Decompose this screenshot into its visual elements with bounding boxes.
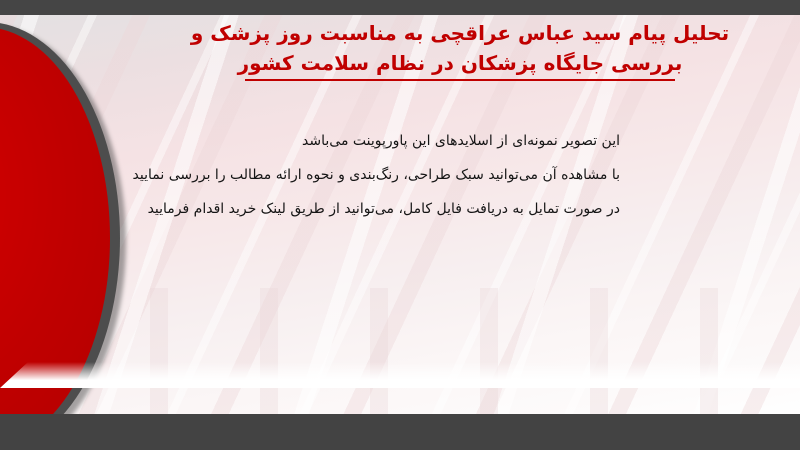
presentation-slide: تحلیل پیام سید عباس عراقچی به مناسبت روز… (0, 0, 800, 450)
slide-title-line-2: بررسی جایگاه پزشکان در نظام سلامت کشور (140, 48, 780, 78)
body-text-line-3: در صورت تمایل به دریافت فایل کامل، می‌تو… (180, 192, 620, 226)
body-text-line-1: این تصویر نمونه‌ای از اسلایدهای این پاور… (180, 124, 620, 158)
slide-canvas: تحلیل پیام سید عباس عراقچی به مناسبت روز… (0, 14, 800, 418)
background-vertical-bands-decoration (0, 288, 800, 418)
oval-red-fill (0, 27, 110, 418)
bottom-white-wedge-decoration (0, 362, 800, 388)
slide-body-text: این تصویر نمونه‌ای از اسلایدهای این پاور… (180, 124, 620, 226)
bottom-dark-bar-decoration (0, 414, 800, 450)
top-dark-bar-decoration (0, 0, 800, 15)
title-underline-rule (245, 79, 675, 81)
left-red-oval-shape (0, 22, 120, 418)
slide-title: تحلیل پیام سید عباس عراقچی به مناسبت روز… (140, 18, 780, 81)
slide-title-line-1: تحلیل پیام سید عباس عراقچی به مناسبت روز… (140, 18, 780, 48)
oval-shadow (0, 26, 126, 418)
body-text-line-2: با مشاهده آن می‌توانید سبک طراحی، رنگ‌بن… (180, 158, 620, 192)
oval-border-ring (0, 22, 120, 418)
